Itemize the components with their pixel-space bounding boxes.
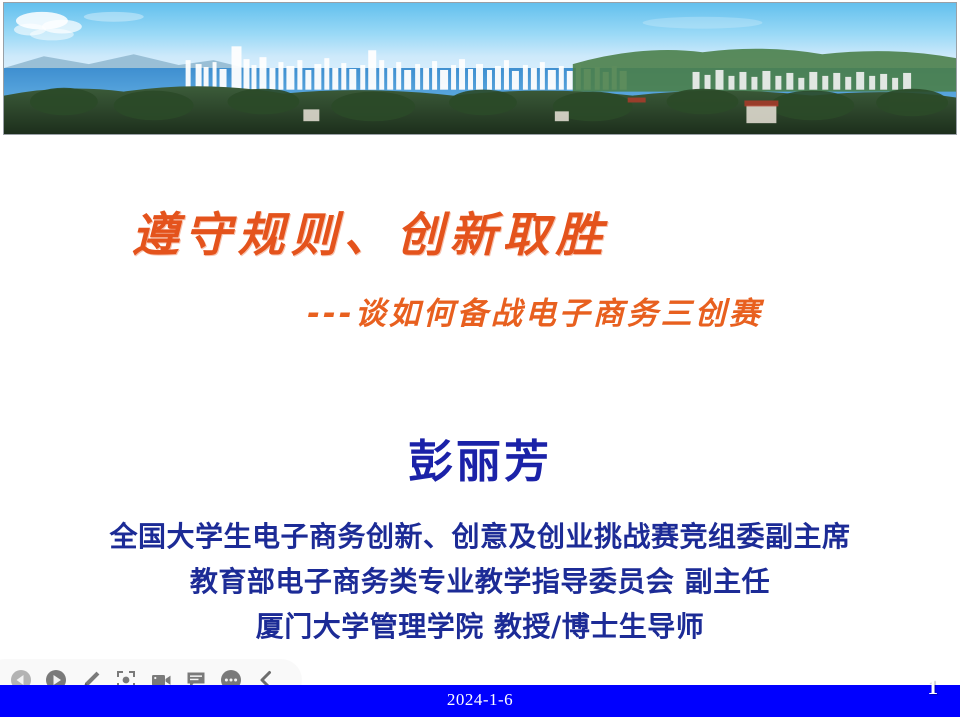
slide-subtitle: ---谈如何备战电子商务三创赛 (0, 288, 960, 333)
presentation-slide: 遵守规则、创新取胜 ---谈如何备战电子商务三创赛 彭丽芳 全国大学生电子商务创… (0, 0, 960, 717)
credential-line-2: 教育部电子商务类专业教学指导委员会 副主任 (0, 568, 960, 596)
footer-page-number: 1 (928, 675, 939, 700)
credential-line-3: 厦门大学管理学院 教授/博士生导师 (0, 613, 960, 641)
author-credentials: 全国大学生电子商务创新、创意及创业挑战赛竞组委副主席 教育部电子商务类专业教学指… (0, 523, 960, 641)
slide-footer-bar: 2024-1-6 1 (0, 685, 960, 717)
banner-image (3, 2, 957, 135)
coastal-city-skyline-photo (4, 3, 956, 134)
author-name: 彭丽芳 (0, 425, 960, 490)
footer-date: 2024-1-6 (0, 690, 960, 710)
slide-title: 遵守规则、创新取胜 (0, 196, 740, 265)
credential-line-1: 全国大学生电子商务创新、创意及创业挑战赛竞组委副主席 (0, 523, 960, 551)
